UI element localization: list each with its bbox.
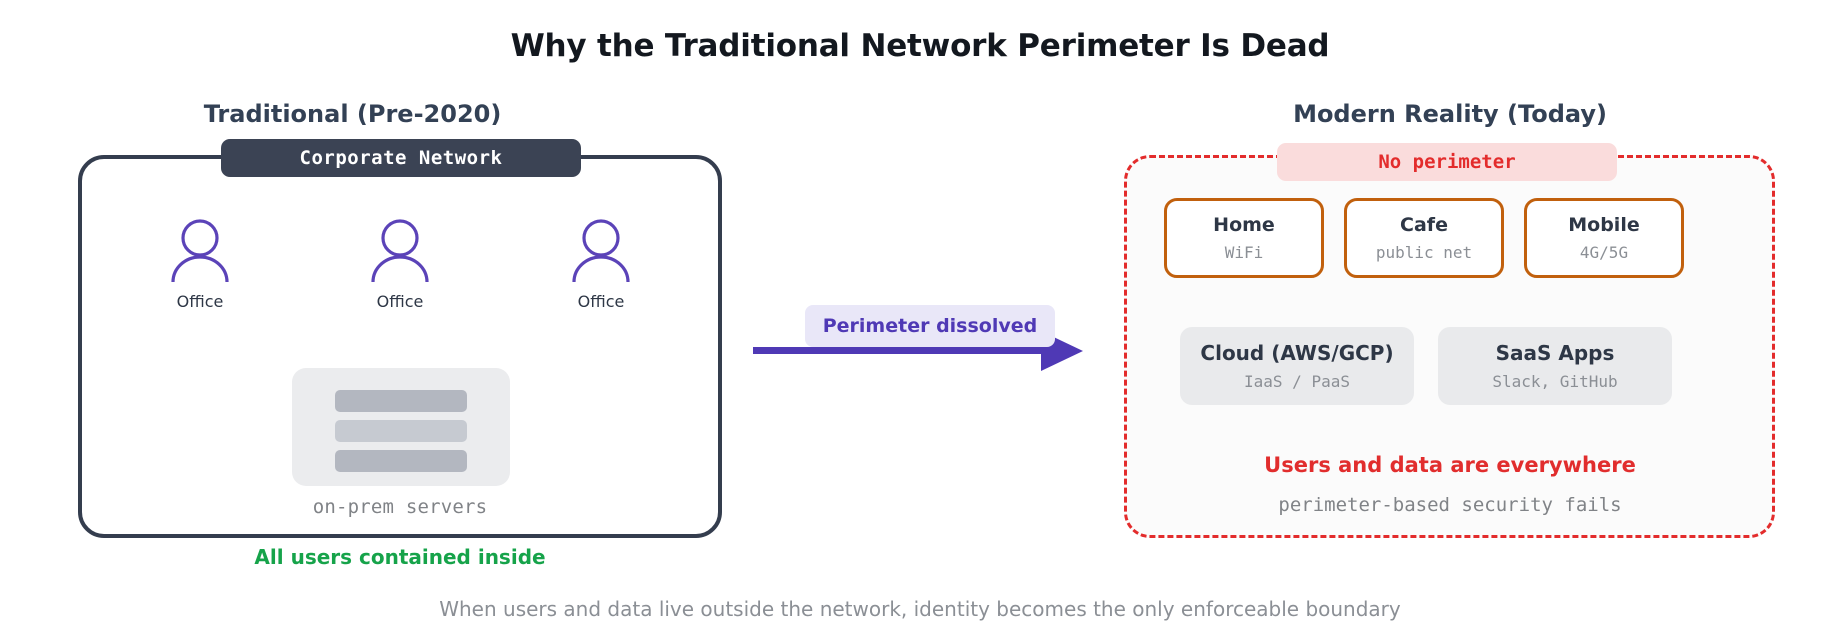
office-user-2: Office xyxy=(546,218,656,311)
diagram-canvas: Why the Traditional Network Perimeter Is… xyxy=(0,0,1840,640)
location-card-title: Home xyxy=(1213,214,1275,236)
person-icon xyxy=(145,218,255,282)
location-card-title: Cafe xyxy=(1400,214,1448,236)
server-rack-icon xyxy=(292,368,510,486)
service-card-subtitle: IaaS / PaaS xyxy=(1244,372,1350,391)
service-card-subtitle: Slack, GitHub xyxy=(1492,372,1617,391)
footer-caption: When users and data live outside the net… xyxy=(0,597,1840,621)
location-card-subtitle: public net xyxy=(1376,243,1472,262)
server-bar xyxy=(335,450,467,472)
left-panel-heading: Traditional (Pre-2020) xyxy=(80,100,625,128)
location-card-home: Home WiFi xyxy=(1164,198,1324,278)
service-card-cloud: Cloud (AWS/GCP) IaaS / PaaS xyxy=(1180,327,1414,405)
right-alert-text: Users and data are everywhere xyxy=(1140,453,1760,477)
service-card-title: Cloud (AWS/GCP) xyxy=(1200,341,1393,365)
location-card-mobile: Mobile 4G/5G xyxy=(1524,198,1684,278)
arrow-line xyxy=(753,347,1045,354)
location-card-subtitle: WiFi xyxy=(1225,243,1264,262)
person-icon xyxy=(546,218,656,282)
right-panel-heading: Modern Reality (Today) xyxy=(1125,100,1775,128)
service-card-title: SaaS Apps xyxy=(1496,341,1615,365)
server-caption: on-prem servers xyxy=(180,496,620,518)
location-card-subtitle: 4G/5G xyxy=(1580,243,1628,262)
location-card-title: Mobile xyxy=(1568,214,1639,236)
person-icon xyxy=(345,218,455,282)
right-note-text: perimeter-based security fails xyxy=(1140,494,1760,516)
location-card-cafe: Cafe public net xyxy=(1344,198,1504,278)
server-bar xyxy=(335,420,467,442)
office-user-0: Office xyxy=(145,218,255,311)
no-perimeter-badge: No perimeter xyxy=(1277,143,1617,181)
page-title: Why the Traditional Network Perimeter Is… xyxy=(0,28,1840,64)
office-user-1: Office xyxy=(345,218,455,311)
office-user-label: Office xyxy=(145,292,255,311)
transition-arrow: Perimeter dissolved xyxy=(745,305,1105,375)
corporate-network-badge: Corporate Network xyxy=(221,139,581,177)
left-footnote: All users contained inside xyxy=(80,545,720,569)
server-bar xyxy=(335,390,467,412)
service-card-saas: SaaS Apps Slack, GitHub xyxy=(1438,327,1672,405)
arrow-label: Perimeter dissolved xyxy=(805,305,1055,347)
office-user-label: Office xyxy=(546,292,656,311)
office-user-label: Office xyxy=(345,292,455,311)
